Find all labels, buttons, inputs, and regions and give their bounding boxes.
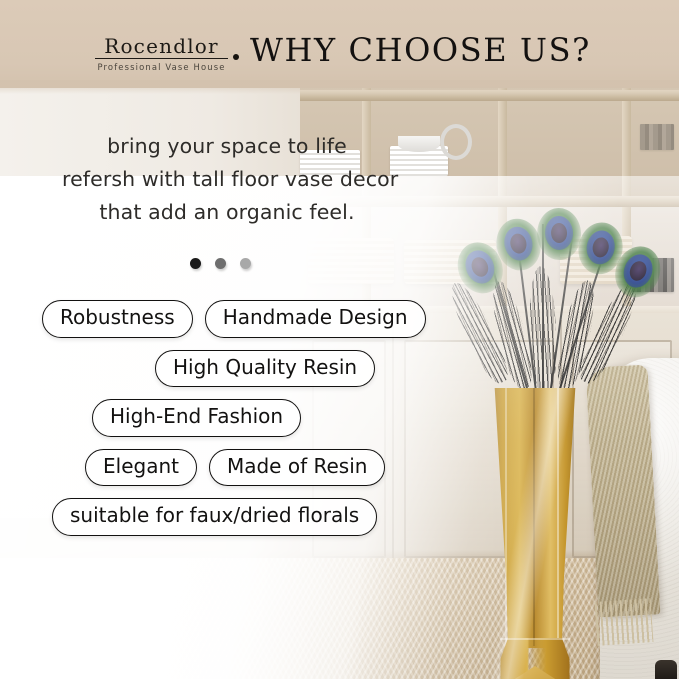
brand-logo: Rocendlor Professional Vase House: [95, 36, 228, 72]
vase-facet-edge: [533, 388, 535, 646]
copy-line-3: that add an organic feel.: [62, 196, 392, 229]
decorative-dot-3: [240, 258, 251, 269]
decorative-dot-2: [215, 258, 226, 269]
feature-pill: Robustness: [42, 300, 193, 338]
feature-pill-row: RobustnessHandmade Design: [0, 300, 460, 338]
page-title: WHY CHOOSE US?: [250, 31, 591, 69]
vase-facet-edge: [557, 388, 559, 646]
feature-pill-row: High-End Fashion: [0, 399, 460, 437]
vase-facet-edge: [500, 638, 570, 640]
feature-pill: High-End Fashion: [92, 399, 301, 437]
bowl: [398, 136, 440, 152]
vase-body: [487, 388, 583, 648]
decorative-dots: [190, 258, 251, 269]
feature-pill: High Quality Resin: [155, 350, 375, 388]
mug-icon: [440, 124, 472, 160]
bullet-dot-icon: [233, 54, 239, 60]
brand-name: Rocendlor: [95, 36, 228, 59]
gold-floor-vase: [487, 388, 583, 679]
marketing-copy: bring your space to life refersh with ta…: [62, 130, 392, 229]
throw-fringe: [595, 598, 654, 646]
feather-eye: [536, 207, 582, 261]
feature-pill-row: High Quality Resin: [0, 350, 460, 388]
chair-foot: [655, 660, 677, 679]
woven-basket: [308, 238, 394, 284]
feature-pill: Handmade Design: [205, 300, 426, 338]
feature-pill-row: ElegantMade of Resin: [0, 449, 460, 487]
feature-pill-list: RobustnessHandmade DesignHigh Quality Re…: [0, 300, 460, 548]
copy-line-2: refersh with tall floor vase decor: [62, 163, 392, 196]
vase-facet-edge: [505, 388, 507, 646]
peacock-feathers: [430, 196, 650, 416]
feature-pill: Elegant: [85, 449, 197, 487]
decorative-dot-1: [190, 258, 201, 269]
books: [640, 124, 674, 150]
brand-tagline: Professional Vase House: [95, 62, 228, 72]
feature-pill: suitable for faux/dried florals: [52, 498, 377, 536]
feature-pill: Made of Resin: [209, 449, 385, 487]
product-feature-poster: Rocendlor Professional Vase House WHY CH…: [0, 0, 679, 679]
header-fade: [0, 80, 679, 94]
copy-line-1: bring your space to life: [62, 130, 392, 163]
feature-pill-row: suitable for faux/dried florals: [0, 498, 460, 536]
